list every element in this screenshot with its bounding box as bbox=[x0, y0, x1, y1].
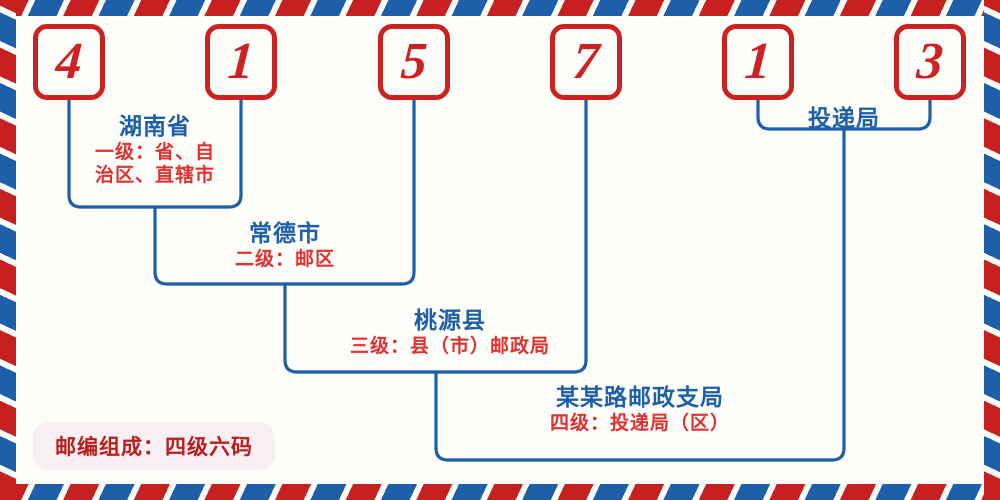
level-3-title: 桃源县 bbox=[310, 307, 590, 334]
level-4-subtitle: 四级：投递局（区） bbox=[500, 413, 780, 435]
level-2-subtitle-line-1: 二级：邮区 bbox=[185, 249, 385, 271]
postal-digit-box-5[interactable]: 1 bbox=[722, 24, 794, 100]
level-1-subtitle-line-1: 一级：省、自 bbox=[75, 142, 235, 164]
delivery-office-title: 投递局 bbox=[762, 105, 926, 132]
level-4-title: 某某路邮政支局 bbox=[500, 384, 780, 411]
postal-digit-box-2[interactable]: 1 bbox=[205, 24, 277, 100]
level-3-label: 桃源县 三级：县（市）邮政局 bbox=[310, 307, 590, 359]
level-4-label: 某某路邮政支局 四级：投递局（区） bbox=[500, 384, 780, 436]
postal-digit-box-6[interactable]: 3 bbox=[894, 24, 966, 100]
postal-digit-glyph-5: 1 bbox=[725, 29, 792, 95]
bracket-level-4 bbox=[436, 448, 844, 460]
level-3-subtitle: 三级：县（市）邮政局 bbox=[310, 336, 590, 358]
postal-code-composition-badge: 邮编组成：四级六码 bbox=[33, 422, 275, 470]
level-1-title: 湖南省 bbox=[75, 113, 235, 140]
postal-digit-glyph-4: 7 bbox=[553, 29, 620, 95]
postal-digit-glyph-6: 3 bbox=[897, 29, 964, 95]
postal-digit-box-1[interactable]: 4 bbox=[33, 24, 105, 100]
level-4-subtitle-line-1: 四级：投递局（区） bbox=[500, 413, 780, 435]
delivery-office-label: 投递局 bbox=[762, 105, 926, 132]
postal-digit-glyph-1: 4 bbox=[36, 29, 103, 95]
level-2-label: 常德市 二级：邮区 bbox=[185, 220, 385, 272]
postal-digit-box-3[interactable]: 5 bbox=[378, 24, 450, 100]
postal-digit-glyph-2: 1 bbox=[208, 29, 275, 95]
level-2-title: 常德市 bbox=[185, 220, 385, 247]
envelope-canvas: 4 1 5 7 1 3 湖南省 一级：省、自 治区、直辖市 常德市 二级：邮区 … bbox=[0, 0, 1000, 500]
level-1-label: 湖南省 一级：省、自 治区、直辖市 bbox=[75, 113, 235, 187]
level-3-subtitle-line-1: 三级：县（市）邮政局 bbox=[310, 336, 590, 358]
level-2-subtitle: 二级：邮区 bbox=[185, 249, 385, 271]
level-1-subtitle-line-2: 治区、直辖市 bbox=[75, 165, 235, 187]
postal-digit-box-4[interactable]: 7 bbox=[550, 24, 622, 100]
postal-code-composition-text: 邮编组成：四级六码 bbox=[55, 435, 253, 459]
postal-digit-glyph-3: 5 bbox=[381, 29, 448, 95]
level-1-subtitle: 一级：省、自 治区、直辖市 bbox=[75, 142, 235, 187]
